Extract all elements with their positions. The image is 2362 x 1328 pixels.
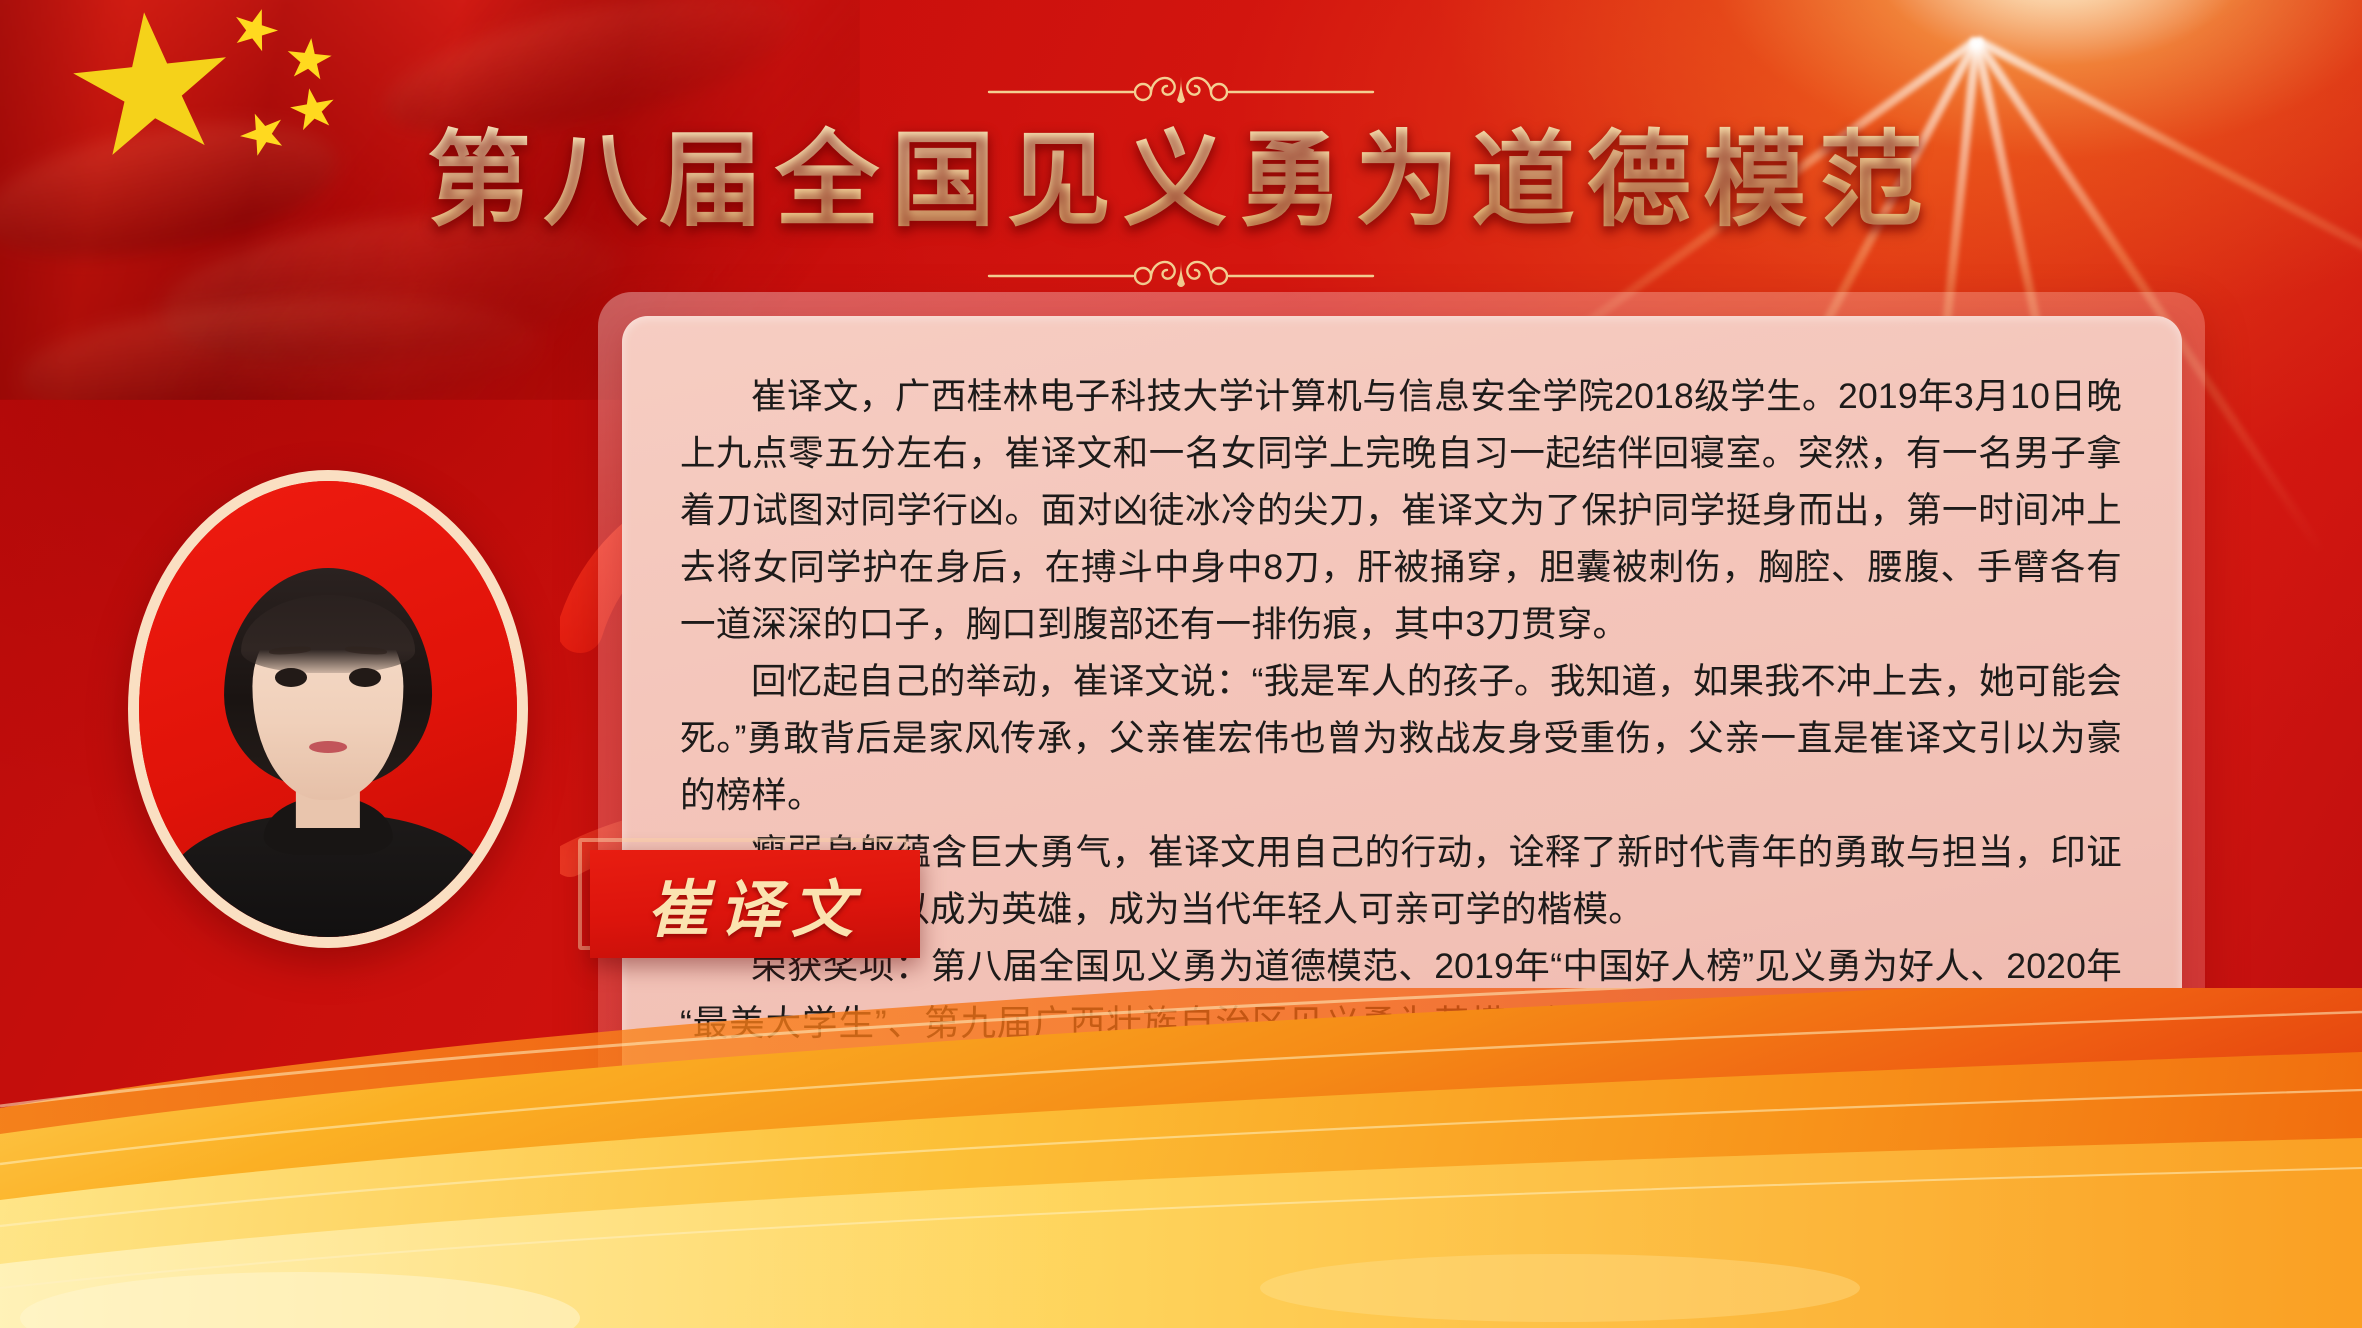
name-plate: 崔译文 — [590, 850, 920, 958]
page-title: 第八届全国见义勇为道德模范 — [0, 110, 2362, 246]
title-block: 第八届全国见义勇为道德模范 — [0, 66, 2362, 294]
portrait-photo — [139, 481, 517, 937]
avatar — [128, 470, 528, 948]
person-name: 崔译文 — [647, 859, 863, 949]
scroll-flourish-bottom-icon — [981, 250, 1381, 294]
poster-canvas: 第八届全国见义勇为道德模范 — [0, 0, 2362, 1328]
biography-text: 崔译文，广西桂林电子科技大学计算机与信息安全学院2018级学生。2019年3月1… — [680, 368, 2122, 1109]
light-halo — [1772, 0, 2362, 50]
content-panel: 崔译文，广西桂林电子科技大学计算机与信息安全学院2018级学生。2019年3月1… — [622, 316, 2182, 1134]
paragraph-1: 崔译文，广西桂林电子科技大学计算机与信息安全学院2018级学生。2019年3月1… — [680, 368, 2122, 653]
paragraph-2: 回忆起自己的举动，崔译文说：“我是军人的孩子。我知道，如果我不冲上去，她可能会死… — [680, 653, 2122, 824]
paragraph-4-awards: 荣获奖项：第八届全国见义勇为道德模范、2019年“中国好人榜”见义勇为好人、20… — [680, 938, 2122, 1109]
scroll-flourish-top-icon — [981, 66, 1381, 110]
